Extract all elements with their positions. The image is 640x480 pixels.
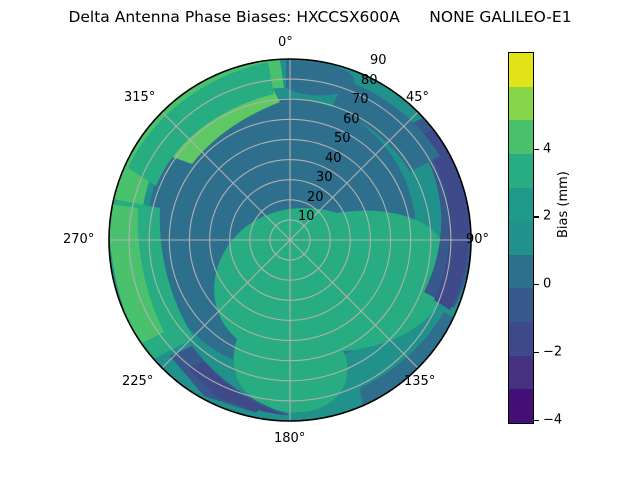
theta-label-180: 180° [274, 432, 305, 445]
r-label-90: 90 [370, 54, 387, 67]
colorbar-tick-0 [534, 284, 539, 285]
colorbar-ticklabel-n2: −2 [543, 344, 562, 359]
theta-label-315: 315° [124, 91, 155, 104]
r-label-70: 70 [352, 93, 369, 106]
theta-label-90: 90° [466, 233, 489, 246]
colorbar-tick-n2 [534, 352, 539, 353]
r-label-60: 60 [343, 113, 360, 126]
colorbar-band-6 [509, 188, 533, 222]
colorbar-band-4 [509, 255, 533, 289]
colorbar-axis-label: Bias (mm) [556, 171, 571, 238]
colorbar-ticklabel-4: 4 [543, 141, 551, 156]
colorbar-band-8 [509, 120, 533, 154]
colorbar-band-5 [509, 221, 533, 255]
colorbar-band-1 [509, 356, 533, 390]
colorbar-band-0 [509, 389, 533, 423]
r-label-40: 40 [325, 152, 342, 165]
colorbar-ticklabel-2: 2 [543, 209, 551, 224]
colorbar-band-10 [509, 53, 533, 87]
matplotlib-figure: Delta Antenna Phase Biases: HXCCSX600A N… [0, 0, 640, 480]
colorbar-gradient [508, 52, 534, 424]
theta-label-45: 45° [406, 91, 429, 104]
colorbar-tick-4 [534, 149, 539, 150]
polar-contour-plot [108, 58, 472, 422]
colorbar-band-7 [509, 154, 533, 188]
colorbar-ticklabel-n4: −4 [543, 412, 562, 427]
r-label-80: 80 [361, 74, 378, 87]
r-label-20: 20 [307, 191, 324, 204]
colorbar-ticklabel-0: 0 [543, 277, 551, 292]
theta-label-225: 225° [122, 375, 153, 388]
r-label-30: 30 [316, 171, 333, 184]
colorbar-tick-n4 [534, 420, 539, 421]
theta-label-135: 135° [404, 375, 435, 388]
colorbar-band-9 [509, 87, 533, 121]
page-title: Delta Antenna Phase Biases: HXCCSX600A N… [0, 8, 640, 26]
r-label-10: 10 [298, 210, 315, 223]
theta-label-270: 270° [63, 233, 94, 246]
polar-grid-spokes [109, 59, 471, 421]
colorbar-band-2 [509, 322, 533, 356]
colorbar-band-3 [509, 288, 533, 322]
polar-axes: 0° 45° 90° 135° 180° 225° 270° 315° 10 2… [108, 58, 472, 422]
theta-label-0: 0° [278, 36, 293, 49]
r-label-50: 50 [334, 132, 351, 145]
colorbar-tick-2 [534, 216, 539, 217]
colorbar: 4 2 0 −2 −4 [508, 52, 534, 424]
